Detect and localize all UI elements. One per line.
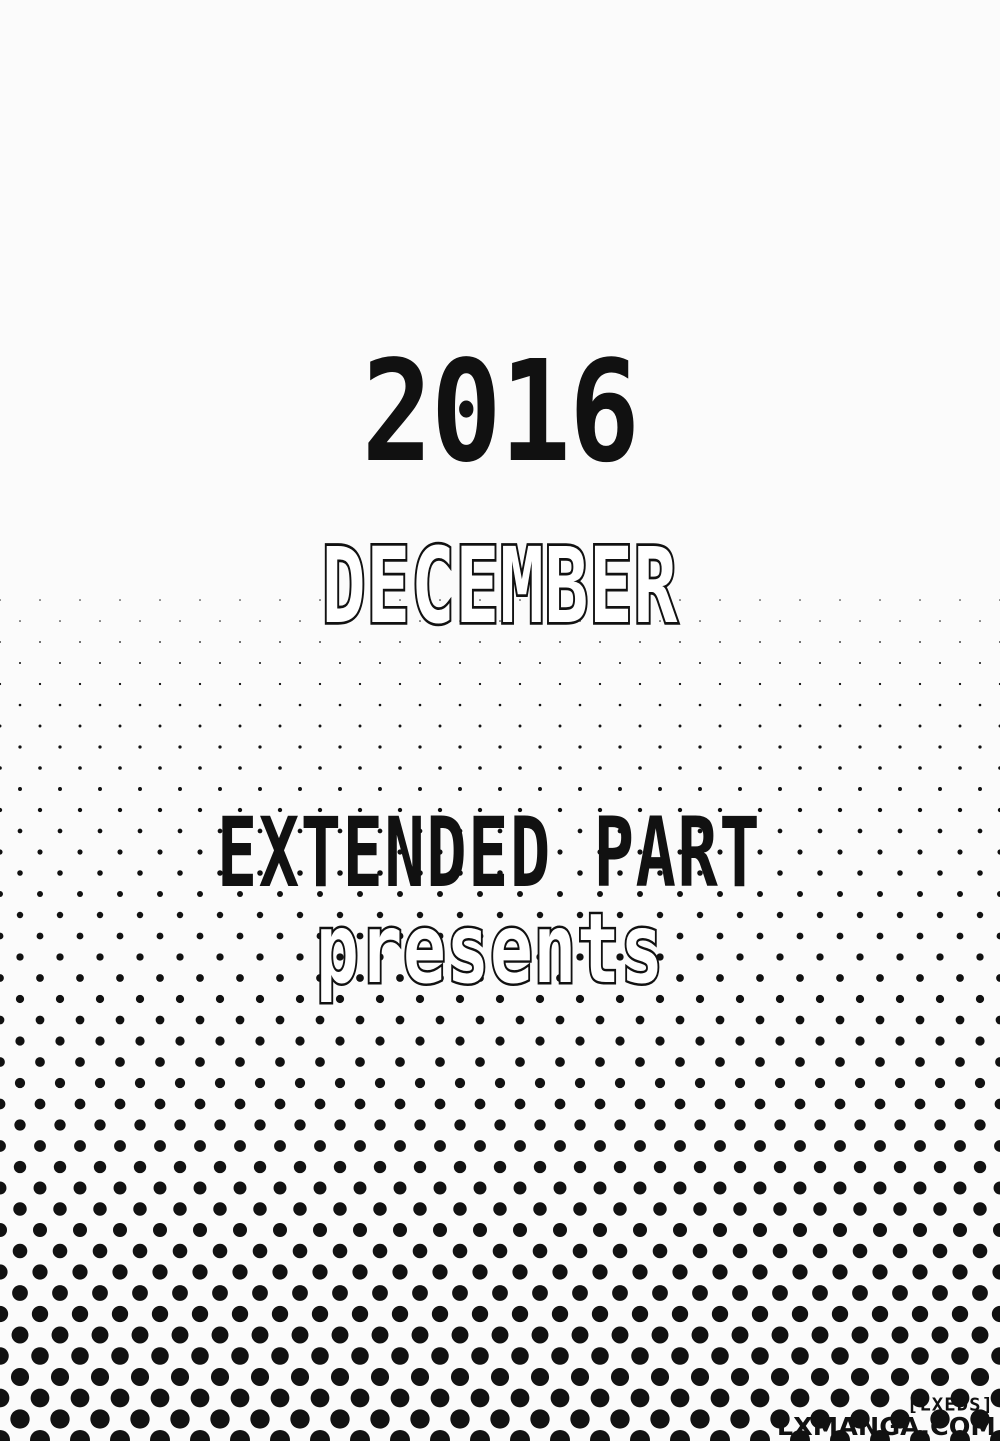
group-heading: EXTENDED PART bbox=[0, 806, 1000, 896]
year-heading: 2016 bbox=[0, 352, 1000, 477]
presents-heading: presents bbox=[0, 912, 1000, 994]
group-text: EXTENDED PART bbox=[217, 797, 761, 909]
halftone-dot-gradient bbox=[0, 0, 1000, 1441]
presents-text: presents bbox=[316, 893, 664, 1004]
title-page: 2016 DECEMBER EXTENDED PART presents [LX… bbox=[0, 0, 1000, 1441]
watermark-site: LXMANGA.COM bbox=[777, 1414, 996, 1439]
month-text: DECEMBER bbox=[322, 527, 678, 647]
year-text: 2016 bbox=[362, 331, 638, 493]
month-heading: DECEMBER bbox=[0, 536, 1000, 634]
watermark: [LXEDS] LXMANGA.COM bbox=[779, 1396, 994, 1439]
